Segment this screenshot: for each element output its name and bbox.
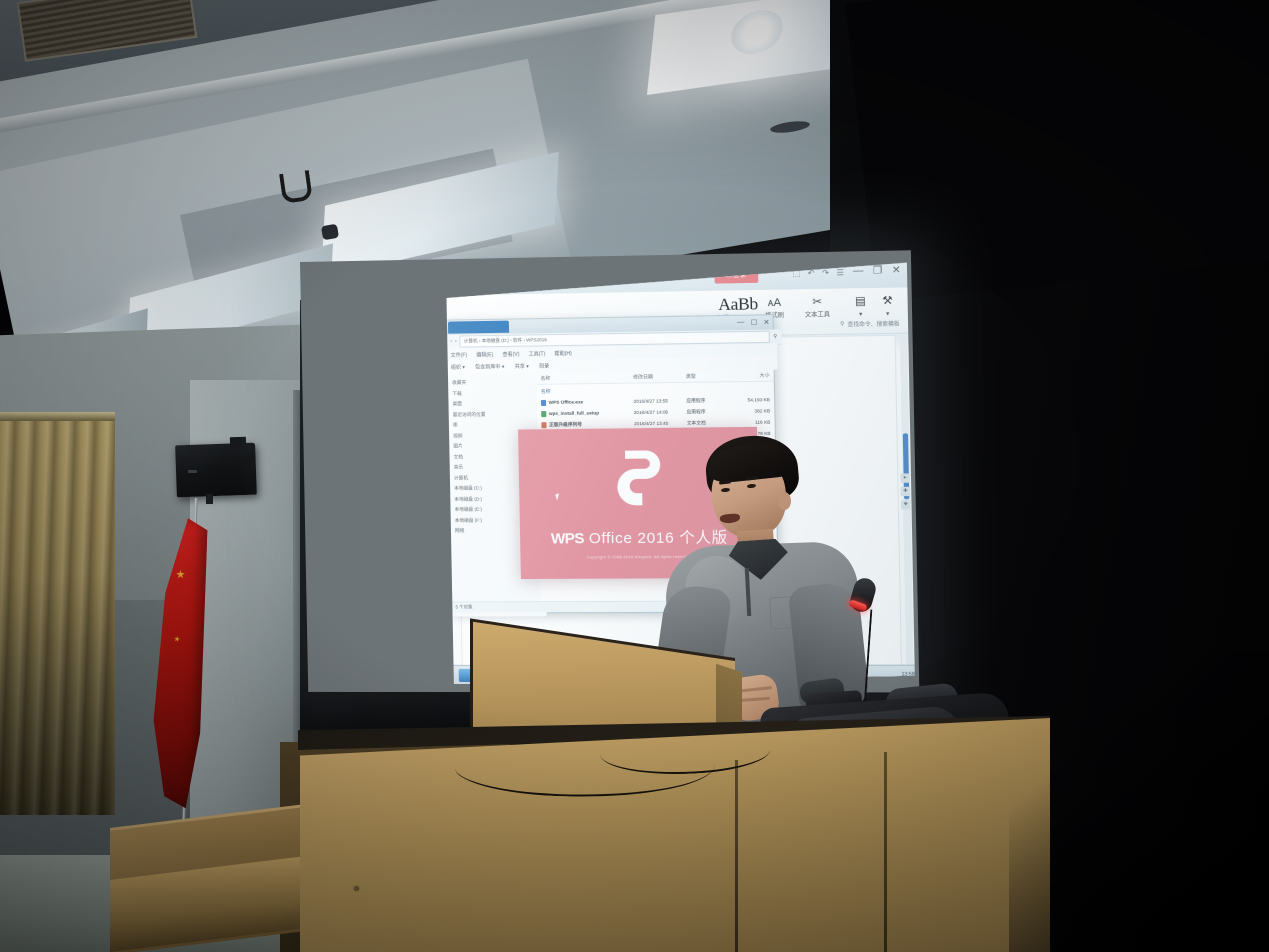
minimize-icon[interactable]: — <box>853 266 864 277</box>
wps-login-badge[interactable]: 未登录 <box>714 270 758 284</box>
tools-icon: ⚒ <box>882 294 893 311</box>
back-icon[interactable]: ‹ <box>450 339 452 345</box>
toolbar-include-library[interactable]: 包含到库中 ▾ <box>475 363 505 370</box>
toolbar-share[interactable]: 共享 ▾ <box>515 363 529 370</box>
side-button-2[interactable]: ❖ <box>901 500 911 509</box>
side-button-1[interactable]: ✚ <box>901 487 911 496</box>
file-size: 116 KB <box>729 419 774 425</box>
ribbon-group-tools[interactable]: ⚒ ▾ <box>882 294 893 319</box>
menu-help[interactable]: 帮助(H) <box>554 349 571 356</box>
ribbon-label-3: ▾ <box>886 311 889 317</box>
file-type: 文本文档 <box>687 420 730 427</box>
window-curtain <box>0 415 115 815</box>
file-name: wps_install_full_setup <box>549 410 599 416</box>
wps-search-box[interactable]: ⚲ 查找命令、搜索模板 <box>840 319 900 328</box>
close-icon[interactable]: ✕ <box>763 318 769 326</box>
qat-item-2[interactable]: ↷ <box>822 268 829 277</box>
file-name: 正版升级序列号 <box>549 421 582 427</box>
forward-icon[interactable]: › <box>455 339 457 345</box>
format-painter-icon: ᴀA <box>765 296 784 313</box>
file-type: 应用程序 <box>686 397 729 404</box>
file-type: 应用程序 <box>686 408 729 415</box>
menu-file[interactable]: 文件(F) <box>451 351 468 358</box>
speaker-bracket <box>206 494 213 504</box>
ribbon-group-table[interactable]: ▤ ▾ <box>855 294 866 319</box>
lectern-panel-seam <box>735 760 738 952</box>
lectern-knob-icon <box>354 886 359 891</box>
taskbar-clock[interactable]: 13:58 <box>902 672 915 678</box>
menu-tools[interactable]: 工具(T) <box>528 350 545 357</box>
curtain-rod <box>0 412 115 421</box>
toolbar-burn[interactable]: 刻录 <box>539 362 549 369</box>
side-button-0[interactable]: ▸ <box>900 473 910 482</box>
text-tools-icon: ✂ <box>805 295 830 312</box>
ribbon-label-1: 文本工具 <box>805 312 830 319</box>
table-icon: ▤ <box>855 294 866 311</box>
app-icon <box>541 399 546 405</box>
wps-window-controls[interactable]: — ❐ ✕ <box>853 265 901 277</box>
close-icon[interactable]: ✕ <box>892 265 901 276</box>
speaker-mount-tab <box>230 437 246 448</box>
toolbar-organize[interactable]: 组织 ▾ <box>451 364 465 371</box>
file-size: 382 KB <box>729 408 774 414</box>
splash-brand: WPS <box>551 530 584 547</box>
qat-item-3[interactable]: ☰ <box>836 268 844 277</box>
app-icon <box>541 411 546 417</box>
explorer-tab[interactable] <box>448 321 509 334</box>
lecture-hall-photo: 未登录 ⬚ ↶ ↷ ☰ — ❐ ✕ AaBb 标题 1 <box>0 0 1269 952</box>
file-modified: 2016/4/27 13:55 <box>634 398 687 404</box>
ribbon-label-2: ▾ <box>859 312 862 318</box>
column-size[interactable]: 大小 <box>729 371 774 379</box>
column-modified[interactable]: 修改日期 <box>633 373 686 381</box>
qat-item-1[interactable]: ↶ <box>808 269 815 278</box>
column-type[interactable]: 类型 <box>686 372 729 380</box>
menu-edit[interactable]: 编辑(E) <box>476 351 493 358</box>
file-name: WPS Office.exe <box>549 399 584 404</box>
maximize-icon[interactable]: ❐ <box>873 265 883 276</box>
style-preview-text: AaBb <box>718 294 758 314</box>
column-name[interactable]: 名称 <box>536 373 633 381</box>
maximize-icon[interactable]: ☐ <box>751 319 758 327</box>
explorer-window-controls[interactable]: — ☐ ✕ <box>737 318 770 327</box>
search-icon: ⚲ <box>840 321 844 327</box>
smoke-detector-icon <box>321 224 339 241</box>
file-modified: 2016/4/27 13:45 <box>634 421 687 427</box>
file-size: 54,193 KB <box>729 397 774 403</box>
qat-item-0[interactable]: ⬚ <box>792 269 800 278</box>
wps-search-placeholder: 查找命令、搜索模板 <box>847 319 899 328</box>
search-icon[interactable]: ⚲ <box>773 334 777 340</box>
mouse-cursor-icon <box>555 493 561 500</box>
wps-quick-access-toolbar[interactable]: ⬚ ↶ ↷ ☰ <box>792 268 844 278</box>
lectern-panel-seam <box>884 752 887 952</box>
wps-side-buttons[interactable]: ▸ ✚ ❖ <box>900 473 910 509</box>
light-bulb-icon <box>729 7 785 57</box>
file-modified: 2016/4/27 14:06 <box>634 409 687 415</box>
ribbon-group-text-tools[interactable]: ✂ 文本工具 <box>805 295 831 321</box>
speaker-led-icon <box>188 470 197 473</box>
minimize-icon[interactable]: — <box>737 319 744 327</box>
menu-view[interactable]: 查看(V) <box>502 350 519 357</box>
presenter-ear <box>778 492 791 510</box>
doc-icon <box>541 422 546 428</box>
